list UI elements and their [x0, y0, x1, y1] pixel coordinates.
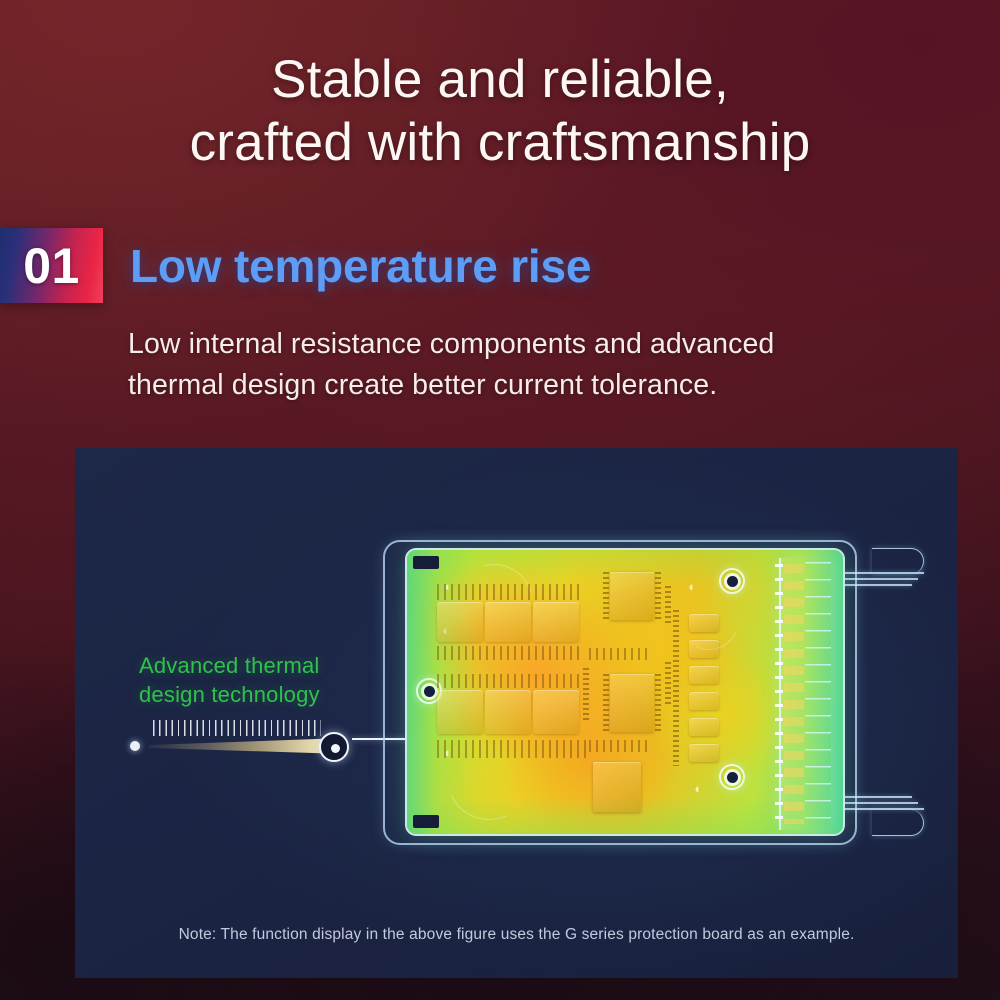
pad-row-top: [437, 584, 583, 600]
resistor-6: [689, 744, 719, 762]
section-number-label: 01: [23, 241, 80, 291]
page-headline: Stable and reliable, crafted with crafts…: [0, 48, 1000, 174]
resistor-5: [689, 718, 719, 736]
ic-chip-1-pins-left: [603, 572, 609, 620]
wire-hook-bottom: [872, 810, 924, 836]
mounting-hole-top-right: [719, 568, 745, 594]
figure-panel: Advanced thermal design technology: [75, 448, 958, 978]
mosfet-4: [437, 690, 483, 734]
section-body-text: Low internal resistance components and a…: [128, 324, 774, 406]
thermal-annotation-label: Advanced thermal design technology: [139, 651, 320, 709]
ic-chip-1-pins-right: [655, 572, 661, 620]
wire-group-top: [872, 548, 958, 588]
connector-pads: [784, 564, 804, 824]
board-notch-top-left: [413, 556, 439, 569]
board-connector-strip: [779, 558, 831, 830]
smd-cluster-1: [589, 648, 651, 660]
smd-cluster-4: [665, 586, 671, 626]
ic-chip-2-pins-left: [603, 674, 609, 732]
mosfet-3: [533, 602, 579, 642]
measurement-gauge-graphic: [127, 720, 352, 764]
section-title: Low temperature rise: [130, 239, 591, 293]
mosfet-1: [437, 602, 483, 642]
decor-mark-4: ◖: [687, 580, 695, 593]
pad-row-mid-2: [437, 674, 583, 688]
wire-group-bottom: [872, 796, 958, 836]
resistor-2: [689, 640, 719, 658]
mounting-hole-bottom-right: [719, 764, 745, 790]
resistor-column-pins: [673, 610, 679, 766]
pad-row-bottom: [437, 740, 587, 758]
connector-trace-lines: [805, 562, 831, 826]
gauge-ticks-icon: [153, 720, 321, 736]
smd-cluster-5: [665, 662, 671, 706]
resistor-4: [689, 692, 719, 710]
mosfet-6: [533, 690, 579, 734]
section-number-badge: 01: [0, 228, 103, 303]
connector-solder-dots: [775, 564, 783, 824]
resistor-3: [689, 666, 719, 684]
ic-chip-1: [610, 572, 654, 620]
ic-chip-2: [610, 674, 654, 732]
gauge-pivot-center-icon: [331, 744, 340, 753]
mosfet-5: [485, 690, 531, 734]
gauge-pivot-icon: [319, 732, 349, 762]
section-heading-row: 01 Low temperature rise: [0, 228, 591, 303]
thermal-pcb-image: ◖ ◖ ◖ ◖ ◖: [405, 548, 845, 836]
gauge-start-dot-icon: [130, 741, 140, 751]
resistor-1: [689, 614, 719, 632]
gauge-bar-icon: [149, 738, 345, 754]
smd-cluster-2: [589, 740, 651, 752]
ic-chip-2-pins-right: [655, 674, 661, 732]
mosfet-2: [485, 602, 531, 642]
board-notch-bottom-left: [413, 815, 439, 828]
smd-cluster-3: [583, 668, 589, 720]
pad-row-mid-1: [437, 646, 583, 660]
decor-mark-5: ◖: [693, 782, 701, 795]
ic-chip-3: [593, 762, 641, 812]
wire-hook-top: [872, 548, 924, 574]
figure-note: Note: The function display in the above …: [75, 926, 958, 944]
